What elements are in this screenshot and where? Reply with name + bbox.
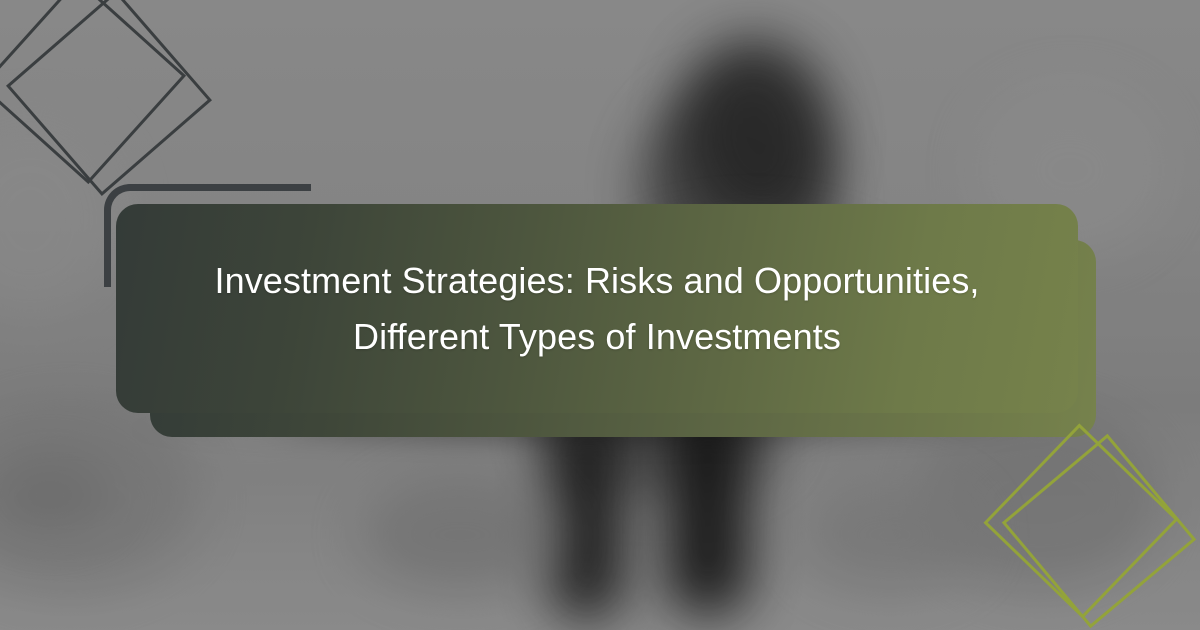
- hero-banner: Investment Strategies: Risks and Opportu…: [0, 0, 1200, 630]
- title-container: Investment Strategies: Risks and Opportu…: [116, 204, 1078, 413]
- page-title: Investment Strategies: Risks and Opportu…: [202, 253, 992, 365]
